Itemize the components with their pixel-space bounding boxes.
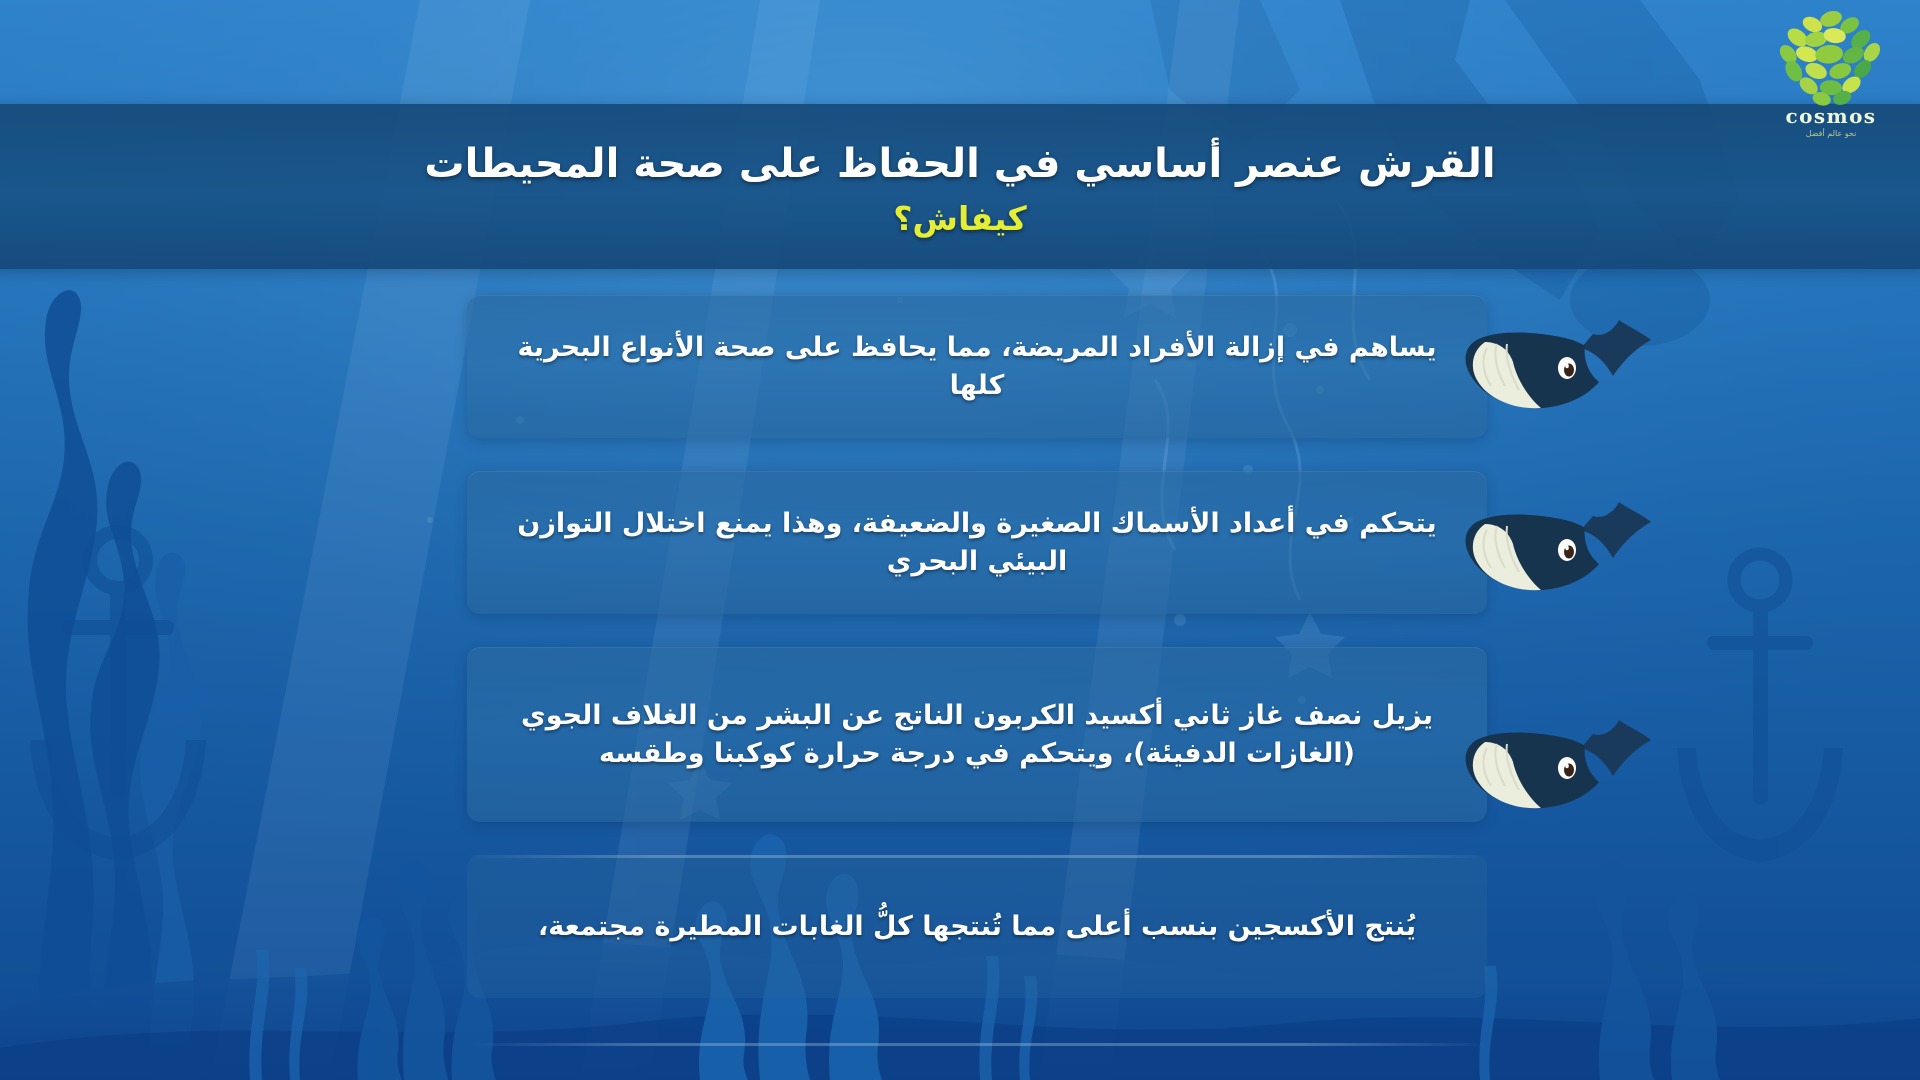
- cards-list: يساهم في إزالة الأفراد المريضة، مما يحاف…: [467, 295, 1487, 998]
- coral-cluster-far-right: [1594, 862, 1720, 1080]
- page-subtitle: كيفاش؟: [893, 201, 1026, 237]
- card-text: يساهم في إزالة الأفراد المريضة، مما يحاف…: [501, 329, 1453, 404]
- list-item[interactable]: يتحكم في أعداد الأسماك الصغيرة والضعيفة،…: [467, 471, 1487, 614]
- logo-wordmark: cosmos: [1786, 106, 1877, 126]
- anchor-right: [1677, 554, 1843, 862]
- logo-tagline: نحو عالم أفضل: [1806, 129, 1857, 138]
- list-item[interactable]: يساهم في إزالة الأفراد المريضة، مما يحاف…: [467, 295, 1487, 438]
- card-text: يزيل نصف غاز ثاني أكسيد الكربون الناتج ع…: [501, 697, 1453, 772]
- page-title: القرش عنصر أساسي في الحفاظ على صحة المحي…: [424, 141, 1495, 187]
- brand-logo[interactable]: cosmos نحو عالم أفضل: [1768, 4, 1894, 144]
- list-item[interactable]: يزيل نصف غاز ثاني أكسيد الكربون الناتج ع…: [467, 647, 1487, 822]
- card-text: يُنتج الأكسجين بنسب أعلى مما تُنتجها كلُ…: [501, 908, 1453, 945]
- leaf-cluster-icon: [1775, 4, 1887, 110]
- card-text: يتحكم في أعداد الأسماك الصغيرة والضعيفة،…: [501, 505, 1453, 580]
- divider: [467, 1043, 1487, 1046]
- anchor-left: [30, 532, 206, 860]
- header-banner: القرش عنصر أساسي في الحفاظ على صحة المحي…: [0, 104, 1920, 269]
- list-item[interactable]: يُنتج الأكسجين بنسب أعلى مما تُنتجها كلُ…: [467, 855, 1487, 998]
- seaweed-left: [28, 290, 160, 1080]
- infographic-slide: القرش عنصر أساسي في الحفاظ على صحة المحي…: [0, 0, 1920, 1080]
- divider: [467, 855, 1487, 858]
